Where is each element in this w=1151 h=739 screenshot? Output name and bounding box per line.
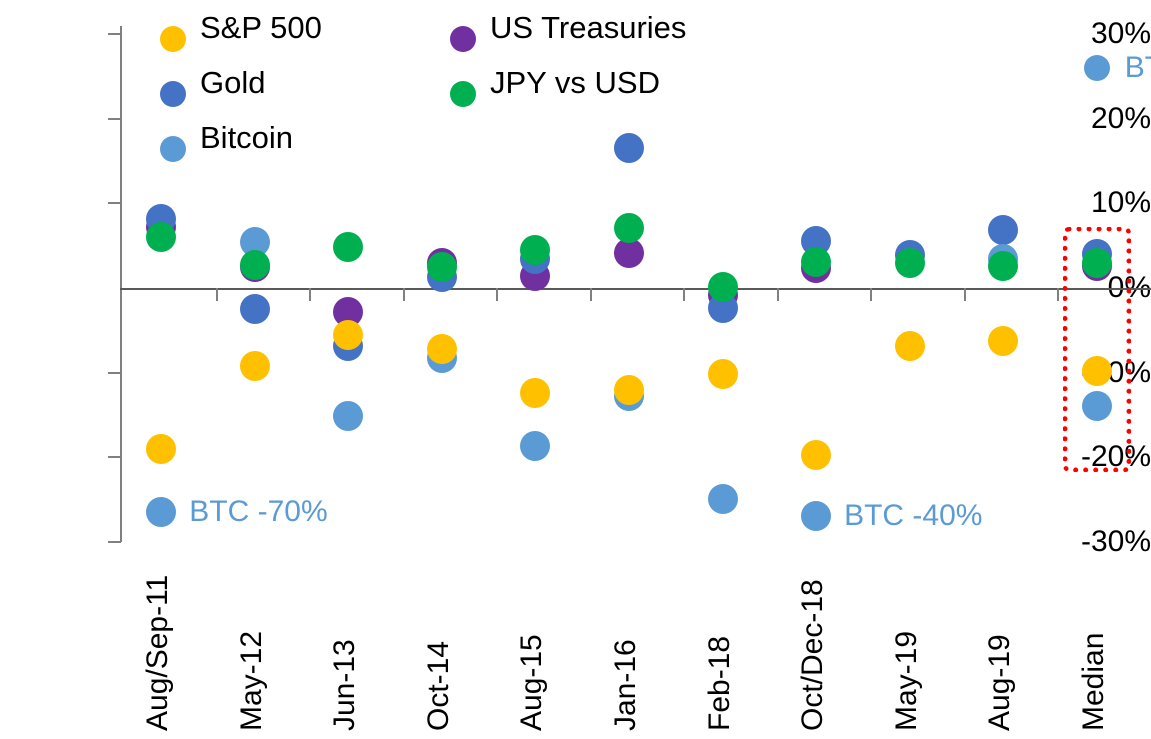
data-point	[895, 331, 925, 361]
data-point	[333, 232, 363, 262]
x-tick-label: May-12	[237, 631, 267, 731]
category-tick	[216, 288, 218, 301]
data-point	[895, 248, 925, 278]
data-point	[614, 375, 644, 405]
data-point	[988, 215, 1018, 245]
category-tick	[590, 288, 592, 301]
data-point	[988, 251, 1018, 281]
data-point	[333, 401, 363, 431]
x-tick-label: Jun-13	[330, 639, 360, 731]
annotation-label: BTC -70%	[189, 497, 327, 527]
data-point	[146, 497, 176, 527]
data-point	[708, 272, 738, 302]
x-tick-label: Aug/Sep-11	[143, 575, 173, 731]
x-tick-label: Feb-18	[705, 636, 735, 731]
x-tick-label: Oct-14	[424, 641, 454, 731]
x-tick-label: Median	[1079, 633, 1109, 731]
annotation-label: BTC +50%	[1125, 53, 1151, 83]
data-point	[427, 252, 457, 282]
data-point	[146, 222, 176, 252]
category-tick	[496, 288, 498, 301]
category-tick	[1057, 288, 1059, 301]
data-point	[801, 247, 831, 277]
data-point	[988, 326, 1018, 356]
data-point	[1082, 248, 1112, 278]
category-tick	[777, 288, 779, 301]
category-tick	[403, 288, 405, 301]
x-tick-label: Oct/Dec-18	[798, 579, 828, 731]
data-point	[614, 213, 644, 243]
data-point	[146, 434, 176, 464]
data-point	[1082, 356, 1112, 386]
category-tick	[870, 288, 872, 301]
data-point	[520, 378, 550, 408]
annotation-dot	[1084, 55, 1110, 81]
data-point	[240, 250, 270, 280]
zero-baseline	[120, 288, 1151, 290]
data-point	[801, 440, 831, 470]
data-point	[240, 294, 270, 324]
x-tick-label: Jan-16	[611, 639, 641, 731]
data-point	[1082, 391, 1112, 421]
x-tick-label: Aug-19	[985, 634, 1015, 731]
data-point	[520, 431, 550, 461]
data-point	[708, 484, 738, 514]
x-tick-label: May-19	[892, 631, 922, 731]
data-point	[240, 351, 270, 381]
data-point	[614, 133, 644, 163]
data-point	[427, 334, 457, 364]
data-point	[520, 235, 550, 265]
annotation-label: BTC -40%	[844, 501, 982, 531]
category-tick	[683, 288, 685, 301]
data-point	[708, 359, 738, 389]
category-tick	[309, 288, 311, 301]
category-tick	[964, 288, 966, 301]
plot-area	[120, 22, 1151, 544]
scatter-chart: S&P 500GoldBitcoin US TreasuriesJPY vs U…	[0, 0, 1151, 739]
data-point	[801, 501, 831, 531]
data-point	[333, 320, 363, 350]
x-tick-label: Aug-15	[517, 634, 547, 731]
